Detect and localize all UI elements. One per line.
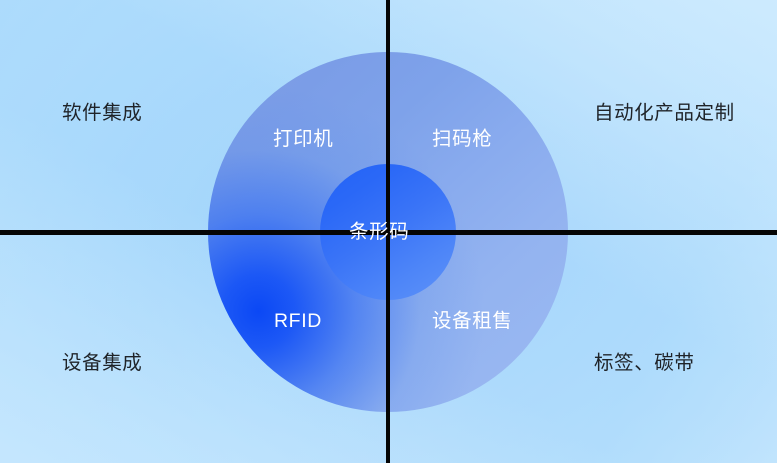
center-label-barcode: 条形码 xyxy=(349,223,409,243)
outer-label-automation-custom: 自动化产品定制 xyxy=(594,104,735,124)
outer-label-labels-ribbons: 标签、碳带 xyxy=(594,354,695,374)
ring-label-rfid: RFID xyxy=(274,312,322,332)
ring-label-scanner: 扫码枪 xyxy=(432,130,492,150)
ring-label-printer: 打印机 xyxy=(273,130,333,150)
ring-label-equipment-rental: 设备租售 xyxy=(432,312,512,332)
diagram-canvas: 软件集成 自动化产品定制 设备集成 标签、碳带 打印机 扫码枪 RFID 设备租… xyxy=(0,0,777,463)
outer-label-software-integration: 软件集成 xyxy=(62,104,142,124)
outer-label-device-integration: 设备集成 xyxy=(62,354,142,374)
